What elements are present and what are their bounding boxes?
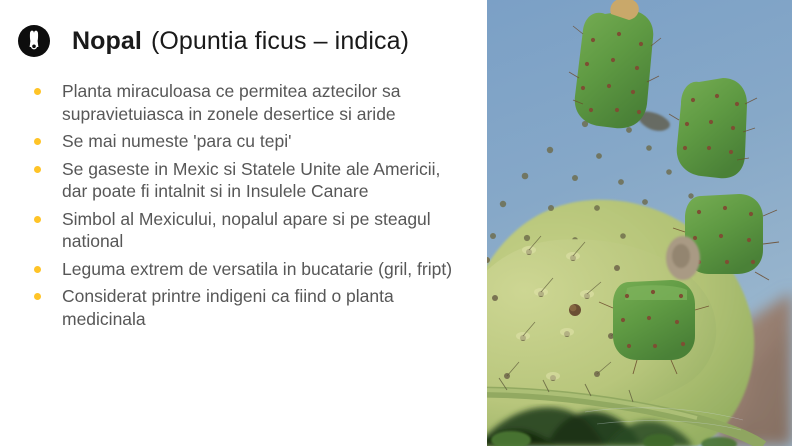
prickly-pear-cactus-photo: [487, 0, 792, 446]
list-item: Simbol al Mexicului, nopalul apare si pe…: [30, 208, 470, 253]
page-title: Nopal(Opuntia ficus – indica): [72, 29, 409, 54]
bullet-dot-icon: [34, 293, 41, 300]
bullet-dot-icon: [34, 138, 41, 145]
list-item: Considerat printre indigeni ca fiind o p…: [30, 285, 470, 330]
bullet-dot-icon: [34, 88, 41, 95]
bullet-dot-icon: [34, 166, 41, 173]
list-item-label: Se mai numeste 'para cu tepi': [62, 130, 470, 153]
bullet-list: Planta miraculoasa ce permitea aztecilor…: [30, 80, 470, 335]
list-item-label: Se gaseste in Mexic si Statele Unite ale…: [62, 158, 470, 203]
title-scientific-name: (Opuntia ficus – indica): [151, 27, 409, 55]
list-item: Leguma extrem de versatila in bucatarie …: [30, 258, 470, 281]
slide-canvas: Nopal(Opuntia ficus – indica) Planta mir…: [0, 0, 792, 446]
list-item: Planta miraculoasa ce permitea aztecilor…: [30, 80, 470, 125]
list-item-label: Considerat printre indigeni ca fiind o p…: [62, 285, 470, 330]
bullet-dot-icon: [34, 216, 41, 223]
cactus-badge-icon: [18, 25, 50, 57]
list-item: Se mai numeste 'para cu tepi': [30, 130, 470, 153]
list-item-label: Leguma extrem de versatila in bucatarie …: [62, 258, 470, 281]
slide-title-row: Nopal(Opuntia ficus – indica): [18, 20, 409, 62]
list-item-label: Planta miraculoasa ce permitea aztecilor…: [62, 80, 470, 125]
list-item-label: Simbol al Mexicului, nopalul apare si pe…: [62, 208, 470, 253]
title-main: Nopal: [72, 27, 142, 55]
list-item: Se gaseste in Mexic si Statele Unite ale…: [30, 158, 470, 203]
bullet-dot-icon: [34, 266, 41, 273]
